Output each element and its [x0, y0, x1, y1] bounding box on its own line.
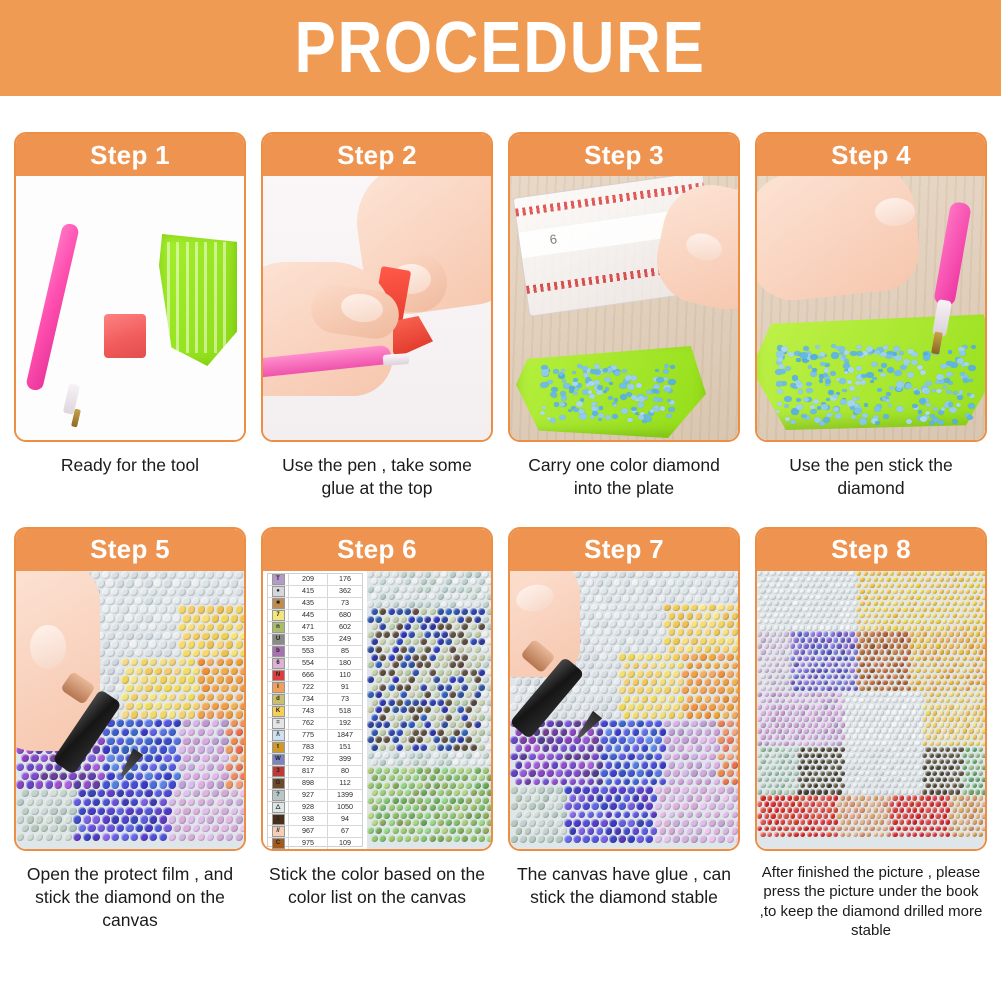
step-caption-8: After finished the picture , please pres…: [755, 863, 987, 941]
color-symbol-swatch: C: [268, 838, 289, 849]
step-card-8[interactable]: Step 8: [755, 527, 987, 851]
diamond-bead: [963, 378, 968, 382]
diamond-bead: [796, 358, 800, 361]
color-code-cell: 209: [289, 574, 328, 585]
diamond-bead: [785, 417, 790, 421]
diamond-bead: [831, 352, 839, 358]
diamond-bead: [541, 369, 549, 375]
color-code-cell: 928: [289, 802, 328, 813]
step-cell-7: Step 7 The canvas have glue , can stick …: [508, 527, 740, 941]
color-code-cell: 975: [289, 838, 328, 849]
diamond-bead: [631, 395, 636, 399]
color-symbol-swatch: N: [268, 670, 289, 681]
steps-row-1: Step 1 Ready for the tool: [0, 132, 1001, 501]
color-code-cell: 445: [289, 610, 328, 621]
diamond-bead: [561, 369, 565, 372]
diamond-bead: [776, 381, 783, 386]
diamond-bead: [619, 383, 627, 389]
diamond-bead: [862, 413, 868, 418]
step-caption-7: The canvas have glue , can stick the dia…: [508, 863, 740, 910]
diamond-bead: [589, 394, 595, 399]
finished-diamond-painting: [757, 571, 985, 849]
color-count-cell: 94: [328, 814, 362, 825]
color-symbol-swatch: 1: [268, 814, 289, 825]
color-count-cell: 518: [328, 706, 362, 717]
step-card-5[interactable]: Step 5: [14, 527, 246, 851]
diamond-bead: [960, 372, 965, 376]
step-header-label-3: Step 3: [584, 140, 664, 171]
diamond-bead: [777, 402, 782, 406]
diamond-bead: [788, 352, 794, 357]
diamond-bead: [572, 381, 578, 385]
diamond-bead: [540, 411, 545, 415]
diamond-bead: [864, 403, 868, 407]
color-code-cell: 927: [289, 790, 328, 801]
diamond-bead: [967, 415, 973, 420]
diamond-bead: [842, 355, 846, 358]
color-symbol-swatch: ■: [268, 598, 289, 609]
diamond-bead: [892, 352, 897, 356]
color-symbol-swatch: U: [268, 634, 289, 645]
diamond-bead: [941, 407, 945, 411]
color-legend-row: U535249: [268, 634, 362, 646]
color-count-cell: 110: [328, 670, 362, 681]
diamond-bead: [906, 419, 912, 424]
step-header-8: Step 8: [757, 529, 985, 571]
color-code-cell: 553: [289, 646, 328, 657]
color-legend-row: ●415362: [268, 586, 362, 598]
color-legend-row: ?9271399: [268, 790, 362, 802]
color-symbol-swatch: /\: [268, 730, 289, 741]
step-card-7[interactable]: Step 7: [508, 527, 740, 851]
diamond-bead: [889, 386, 894, 390]
step-photo-1: [16, 176, 244, 440]
fingernail-icon: [30, 625, 66, 669]
color-symbol-swatch: 7: [268, 610, 289, 621]
diamond-bead: [848, 367, 855, 372]
diamond-bead: [569, 386, 575, 390]
color-legend-row: K743518: [268, 706, 362, 718]
color-legend-row: b55385: [268, 646, 362, 658]
step-header-3: Step 3: [510, 134, 738, 176]
drill-pen-icon: [25, 222, 80, 391]
diamond-bead: [914, 390, 920, 395]
steps-row-2: Step 5 Open the protect film , and stick…: [0, 527, 1001, 941]
step-header-7: Step 7: [510, 529, 738, 571]
diamond-bead: [938, 420, 945, 425]
step-header-5: Step 5: [16, 529, 244, 571]
color-legend-row: 193894: [268, 814, 362, 826]
color-symbol-swatch: G: [268, 778, 289, 789]
color-count-cell: 399: [328, 754, 362, 765]
step-cell-3: Step 3 6 Carry one color diamond: [508, 132, 740, 501]
color-symbol-swatch: △: [268, 802, 289, 813]
diamond-bead: [817, 406, 821, 410]
step-caption-3: Carry one color diamond into the plate: [508, 454, 740, 501]
diamond-bead: [872, 377, 876, 381]
procedure-infographic: PROCEDURE Step 1 Read: [0, 0, 1001, 1001]
step-cell-1: Step 1 Ready for the tool: [14, 132, 246, 501]
diamond-bead: [796, 404, 803, 410]
diamond-bead: [844, 359, 849, 363]
diamond-bead: [968, 365, 976, 371]
step-header-6: Step 6: [263, 529, 491, 571]
step-cell-5: Step 5 Open the protect film , and stick…: [14, 527, 246, 941]
diamond-bead: [880, 373, 886, 377]
color-code-cell: 554: [289, 658, 328, 669]
color-symbol-swatch: n: [268, 622, 289, 633]
step-photo-4: [757, 176, 985, 440]
diamond-bead: [561, 395, 568, 400]
diamond-bead: [866, 346, 874, 352]
diamond-bead: [614, 371, 620, 376]
color-legend-row: d73473: [268, 694, 362, 706]
diamond-bead: [638, 415, 644, 420]
step-header-label-8: Step 8: [831, 534, 911, 565]
diamond-bead: [666, 414, 672, 419]
diamond-bead: [798, 389, 804, 394]
diamond-bead: [658, 398, 663, 402]
color-count-cell: 67: [328, 826, 362, 837]
color-count-cell: 602: [328, 622, 362, 633]
color-symbol-swatch: T: [268, 574, 289, 585]
color-symbol-swatch: ?: [268, 790, 289, 801]
color-code-cell: 435: [289, 598, 328, 609]
color-symbol-swatch: t: [268, 742, 289, 753]
diamond-bead: [948, 402, 953, 406]
diamond-bead: [572, 371, 576, 374]
diamond-bead: [821, 404, 828, 409]
diamond-bead: [880, 352, 887, 357]
diamond-bead: [796, 398, 801, 402]
color-count-cell: 1399: [328, 790, 362, 801]
step-header-label-2: Step 2: [337, 140, 417, 171]
color-legend-row: 381780: [268, 766, 362, 778]
color-legend-row: /\7751847: [268, 730, 362, 742]
diamond-bead: [655, 369, 659, 372]
step-header-label-1: Step 1: [90, 140, 170, 171]
color-count-cell: 151: [328, 742, 362, 753]
diamond-bead: [608, 396, 613, 400]
diamond-tray-icon: [159, 234, 237, 366]
diamond-bead: [833, 394, 838, 398]
diamond-bead: [779, 364, 784, 368]
pen-tip-icon: [383, 353, 410, 366]
step-cell-6: Step 6 T209176●415362■435737445680n47160…: [261, 527, 493, 941]
color-legend-row: W792399: [268, 754, 362, 766]
hand-icon: [757, 176, 923, 305]
step-header-label-6: Step 6: [337, 534, 417, 565]
step-photo-8: [757, 571, 985, 849]
step-caption-6: Stick the color based on the color list …: [261, 863, 493, 910]
diamond-bead: [896, 406, 904, 412]
diamond-bead: [826, 413, 832, 418]
diamond-bead: [959, 351, 966, 356]
diamond-bead: [650, 409, 654, 413]
diamond-bead: [940, 364, 946, 369]
diamond-bead: [579, 413, 587, 419]
step-cell-2: Step 2 Use the pen , take some glue at t…: [261, 132, 493, 501]
step-cell-4: Step 4 Use the pen stick the diamond: [755, 132, 987, 501]
color-code-cell: 898: [289, 778, 328, 789]
color-count-cell: 85: [328, 646, 362, 657]
diamond-bead: [668, 379, 676, 385]
color-symbol-swatch: 3: [268, 766, 289, 777]
diamond-bead: [597, 385, 603, 390]
diamond-bead: [840, 399, 848, 405]
step-caption-4: Use the pen stick the diamond: [755, 454, 987, 501]
diamond-bead: [847, 380, 851, 383]
color-code-cell: 938: [289, 814, 328, 825]
diamond-bead: [920, 370, 926, 375]
step-header-label-5: Step 5: [90, 534, 170, 565]
color-code-cell: 775: [289, 730, 328, 741]
diamond-bead: [554, 402, 559, 406]
diamond-bead: [559, 372, 563, 375]
diamond-bead: [907, 349, 914, 354]
diamond-bead: [612, 414, 618, 419]
diamond-bead: [642, 420, 646, 423]
diamond-bead: [882, 397, 887, 401]
color-code-cell: 817: [289, 766, 328, 777]
diamond-bead: [573, 392, 577, 395]
diamond-bead: [777, 389, 783, 394]
color-legend-row: ■43573: [268, 598, 362, 610]
color-count-cell: 73: [328, 598, 362, 609]
step-card-4[interactable]: Step 4: [755, 132, 987, 442]
diamond-bead: [936, 374, 943, 380]
diamond-bead: [859, 418, 867, 424]
diamond-bead: [551, 387, 557, 392]
step-card-2[interactable]: Step 2: [261, 132, 493, 442]
diamond-bead: [957, 358, 964, 363]
color-code-cell: 792: [289, 754, 328, 765]
diamond-bead: [627, 384, 635, 390]
diamond-bead: [810, 405, 815, 409]
step-photo-6: T209176●415362■435737445680n471602U53524…: [263, 571, 491, 849]
diamond-bead: [849, 386, 855, 391]
color-symbol-swatch: I: [268, 682, 289, 693]
diamond-bead: [560, 391, 566, 396]
diamond-bead: [844, 350, 849, 354]
diamond-bead: [790, 420, 796, 425]
color-code-cell: 535: [289, 634, 328, 645]
step-photo-2: [263, 176, 491, 440]
page-title: PROCEDURE: [295, 12, 706, 84]
diamond-bead: [625, 375, 632, 380]
step-header-4: Step 4: [757, 134, 985, 176]
step-header-1: Step 1: [16, 134, 244, 176]
color-count-cell: 1050: [328, 802, 362, 813]
diamond-bead: [819, 379, 824, 383]
diamond-bead: [639, 397, 645, 402]
color-code-cell: 722: [289, 682, 328, 693]
diamond-bead: [540, 382, 548, 388]
color-symbol-swatch: W: [268, 754, 289, 765]
diamond-bead: [886, 392, 891, 396]
color-legend-row: n471602: [268, 622, 362, 634]
step-caption-2: Use the pen , take some glue at the top: [261, 454, 493, 501]
step-header-label-7: Step 7: [584, 534, 664, 565]
color-count-cell: 73: [328, 694, 362, 705]
color-legend-row: C975109: [268, 838, 362, 849]
diamond-bead: [603, 368, 608, 372]
color-code-cell: 783: [289, 742, 328, 753]
diamond-bead: [851, 415, 856, 419]
diamond-bead: [875, 421, 880, 425]
color-code-cell: 666: [289, 670, 328, 681]
diamond-bead: [670, 365, 675, 369]
diamond-bead: [800, 352, 808, 358]
step-photo-3: 6: [510, 176, 738, 440]
page-header-banner: PROCEDURE: [0, 0, 1001, 96]
step-photo-7: [510, 571, 738, 849]
diamond-bead: [850, 351, 856, 356]
diamond-bead: [552, 393, 558, 397]
diamond-bead: [948, 350, 952, 353]
diamond-bead: [777, 357, 783, 362]
diamond-bead: [893, 346, 900, 352]
color-legend-row: N666110: [268, 670, 362, 682]
color-symbol-swatch: K: [268, 706, 289, 717]
color-legend-row: I72291: [268, 682, 362, 694]
diamond-bead: [573, 378, 578, 382]
color-symbol-swatch: 6: [268, 658, 289, 669]
color-count-cell: 80: [328, 766, 362, 777]
color-count-cell: 91: [328, 682, 362, 693]
step-caption-1: Ready for the tool: [14, 454, 246, 477]
color-count-cell: 362: [328, 586, 362, 597]
diamond-bead: [550, 418, 556, 423]
diamond-canvas: [367, 571, 491, 849]
color-count-cell: 249: [328, 634, 362, 645]
diamond-bead: [605, 387, 609, 391]
step-cell-8: Step 8 After finished the picture , plea…: [755, 527, 987, 941]
color-count-cell: 192: [328, 718, 362, 729]
diamond-bead: [785, 366, 791, 371]
diamond-bead: [907, 372, 915, 378]
color-count-cell: 180: [328, 658, 362, 669]
color-legend-row: T209176: [268, 574, 362, 586]
color-count-cell: 112: [328, 778, 362, 789]
glue-clay-icon: [104, 314, 146, 358]
diamond-bead: [929, 421, 933, 424]
diamond-bead: [887, 367, 894, 373]
diamond-bead: [559, 415, 566, 420]
diamond-bead: [957, 395, 963, 400]
diamond-bead: [920, 416, 927, 422]
diamond-bead: [663, 369, 669, 374]
color-symbol-swatch: //: [268, 826, 289, 837]
diamond-bead: [964, 362, 969, 366]
diamond-bead: [636, 383, 642, 388]
diamond-bead: [946, 372, 953, 377]
diamond-bead: [905, 383, 912, 389]
diamond-bead: [881, 363, 887, 368]
color-count-cell: 680: [328, 610, 362, 621]
color-code-cell: 415: [289, 586, 328, 597]
color-symbol-swatch: ●: [268, 586, 289, 597]
color-count-cell: 109: [328, 838, 362, 849]
color-legend-row: t783151: [268, 742, 362, 754]
color-legend-row: G898112: [268, 778, 362, 790]
step-card-3[interactable]: Step 3 6: [508, 132, 740, 442]
diamond-bead: [812, 368, 816, 372]
step-header-label-4: Step 4: [831, 140, 911, 171]
color-legend-row: 6554180: [268, 658, 362, 670]
diamond-bead: [926, 403, 931, 407]
diamond-bead: [611, 365, 617, 370]
color-code-cell: 734: [289, 694, 328, 705]
diamond-bead: [806, 388, 813, 393]
color-symbol-swatch: b: [268, 646, 289, 657]
diamond-bead: [588, 390, 592, 393]
step-header-2: Step 2: [263, 134, 491, 176]
diamond-bead: [967, 393, 971, 396]
color-legend-row: △9281050: [268, 802, 362, 814]
diamond-bead: [784, 396, 792, 402]
color-symbol-swatch: =: [268, 718, 289, 729]
diamond-bead: [656, 377, 664, 383]
color-code-cell: 471: [289, 622, 328, 633]
step-card-1[interactable]: Step 1: [14, 132, 246, 442]
color-legend-row: //96767: [268, 826, 362, 838]
diamond-bead: [949, 407, 956, 413]
color-count-cell: 1847: [328, 730, 362, 741]
diamond-bead: [810, 354, 818, 360]
step-card-6[interactable]: Step 6 T209176●415362■435737445680n47160…: [261, 527, 493, 851]
diamond-bead: [850, 406, 855, 410]
color-symbol-swatch: d: [268, 694, 289, 705]
fingernail-icon: [875, 198, 915, 226]
color-legend-table: T209176●415362■435737445680n471602U53524…: [267, 573, 363, 847]
diamond-bead: [806, 382, 812, 387]
diamond-bead: [820, 362, 826, 367]
diamond-bead: [775, 369, 783, 375]
diamond-bead: [598, 413, 604, 418]
diamond-bead: [838, 346, 845, 352]
diamond-bead: [917, 365, 923, 370]
diamond-bead: [936, 389, 942, 394]
color-legend-row: =762192: [268, 718, 362, 730]
color-code-cell: 967: [289, 826, 328, 837]
diamond-bead: [830, 371, 836, 376]
diamond-bead: [896, 381, 904, 387]
step-caption-5: Open the protect film , and stick the di…: [14, 863, 246, 933]
color-count-cell: 176: [328, 574, 362, 585]
diamond-bead: [660, 406, 666, 410]
color-code-cell: 743: [289, 706, 328, 717]
color-code-cell: 762: [289, 718, 328, 729]
color-legend-row: 7445680: [268, 610, 362, 622]
diamond-tray-icon: [516, 346, 706, 438]
step-photo-5: [16, 571, 244, 849]
diamond-bead: [885, 399, 889, 402]
